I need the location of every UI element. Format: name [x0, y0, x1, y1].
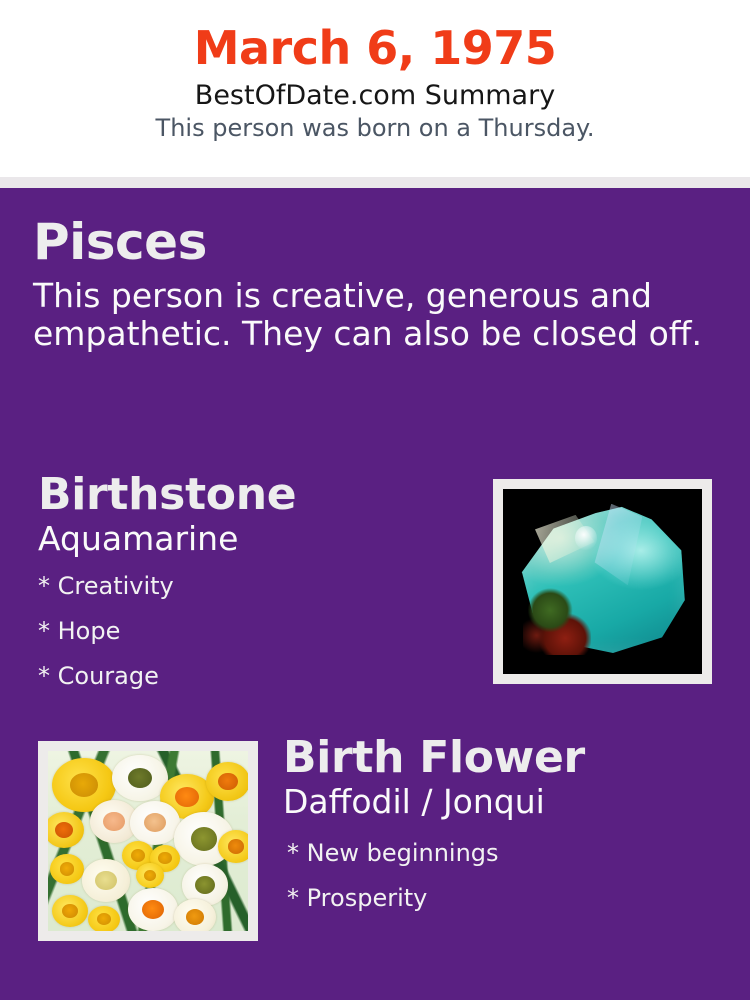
list-item: * Courage [38, 654, 478, 699]
birth-flower-section: Birth Flower Daffodil / Jonqui * New beg… [283, 735, 733, 921]
site-name-subtitle: BestOfDate.com Summary [0, 74, 750, 111]
header-divider [0, 177, 750, 188]
flower-bloom [128, 888, 178, 931]
list-item: * New beginnings [287, 831, 733, 876]
flower-bloom [130, 801, 180, 844]
flower-bloom [206, 762, 248, 802]
zodiac-section: Pisces This person is creative, generous… [33, 216, 713, 354]
crystal-highlight [575, 526, 597, 550]
page-title-date: March 6, 1975 [0, 0, 750, 74]
list-item: * Creativity [38, 564, 478, 609]
birthstone-image-frame [493, 479, 712, 684]
birth-flower-trait-list: * New beginnings * Prosperity [283, 821, 733, 921]
summary-page: March 6, 1975 BestOfDate.com Summary Thi… [0, 0, 750, 1000]
birthstone-trait-list: * Creativity * Hope * Courage [38, 558, 478, 699]
daffodil-flowers-image [48, 751, 248, 931]
weekday-statement: This person was born on a Thursday. [0, 111, 750, 143]
crystal-inclusion [523, 585, 591, 655]
birth-flower-name: Daffodil / Jonqui [283, 781, 733, 821]
birthstone-heading: Birthstone [38, 472, 478, 518]
flower-bloom [88, 906, 120, 931]
birthstone-name: Aquamarine [38, 518, 478, 558]
zodiac-description: This person is creative, generous and em… [33, 269, 703, 355]
birth-flower-image-frame [38, 741, 258, 941]
flower-bloom [50, 854, 84, 885]
zodiac-sign-name: Pisces [33, 216, 713, 269]
list-item: * Hope [38, 609, 478, 654]
details-panel: Pisces This person is creative, generous… [0, 188, 750, 1000]
birthstone-section: Birthstone Aquamarine * Creativity * Hop… [38, 472, 478, 699]
flower-bloom [82, 859, 130, 902]
flower-bloom [218, 830, 248, 862]
birth-flower-heading: Birth Flower [283, 735, 733, 781]
flower-bloom [136, 863, 164, 888]
flower-bloom [174, 899, 216, 931]
list-item: * Prosperity [287, 876, 733, 921]
aquamarine-crystal-image [503, 489, 702, 674]
page-header: March 6, 1975 BestOfDate.com Summary Thi… [0, 0, 750, 177]
